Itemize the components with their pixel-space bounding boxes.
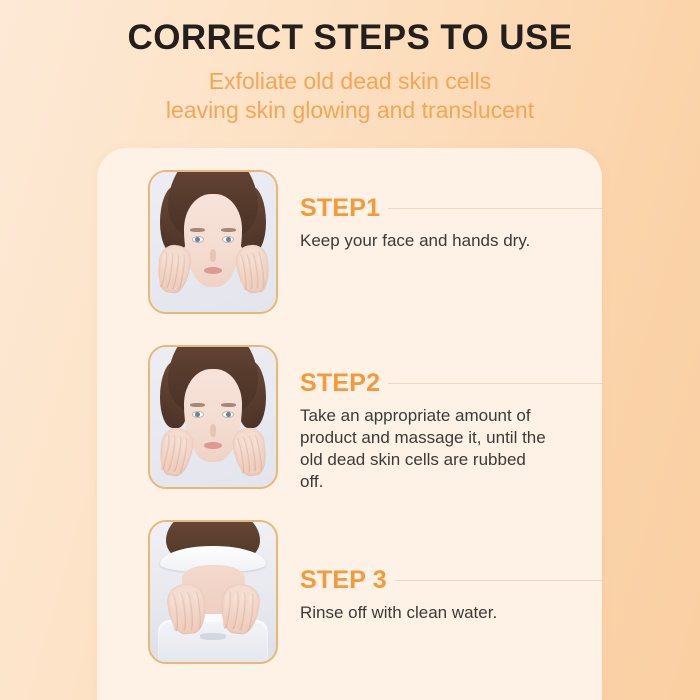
step-item-3: STEP 3 Rinse off with clean water. xyxy=(148,520,602,664)
step-1-heading: STEP1 xyxy=(300,194,602,223)
step-item-1: STEP1 Keep your face and hands dry. xyxy=(148,170,602,314)
step-3-text: STEP 3 Rinse off with clean water. xyxy=(278,520,602,624)
step-3-label: STEP 3 xyxy=(300,566,387,595)
step-1-thumbnail xyxy=(148,170,278,314)
step-3-description: Rinse off with clean water. xyxy=(300,602,560,624)
step-2-heading: STEP2 xyxy=(300,369,602,398)
step-3-photo xyxy=(150,522,276,662)
subtitle-line-2: leaving skin glowing and translucent xyxy=(0,96,700,125)
mouth xyxy=(204,267,222,273)
product-instruction-poster: CORRECT STEPS TO USE Exfoliate old dead … xyxy=(0,0,700,700)
nose xyxy=(210,424,216,437)
step-1-divider xyxy=(388,208,602,209)
step-1-description: Keep your face and hands dry. xyxy=(300,230,552,252)
nose xyxy=(210,249,216,262)
step-2-divider xyxy=(388,383,602,384)
step-2-photo xyxy=(150,347,276,487)
step-3-divider xyxy=(395,580,602,581)
step-2-text: STEP2 Take an appropriate amount of prod… xyxy=(278,345,602,493)
mouth xyxy=(204,442,222,448)
steps-card: STEP1 Keep your face and hands dry. xyxy=(97,148,602,700)
step-3-heading: STEP 3 xyxy=(300,566,602,595)
subtitle-line-1: Exfoliate old dead skin cells xyxy=(0,67,700,96)
poster-header: CORRECT STEPS TO USE Exfoliate old dead … xyxy=(0,0,700,125)
step-2-description: Take an appropriate amount of product an… xyxy=(300,405,552,493)
step-1-label: STEP1 xyxy=(300,194,380,223)
step-2-label: STEP2 xyxy=(300,369,380,398)
step-1-text: STEP1 Keep your face and hands dry. xyxy=(278,170,602,252)
step-1-photo xyxy=(150,172,276,312)
step-3-thumbnail xyxy=(148,520,278,664)
poster-subtitle: Exfoliate old dead skin cells leaving sk… xyxy=(0,67,700,125)
page-title: CORRECT STEPS TO USE xyxy=(0,16,700,60)
step-item-2: STEP2 Take an appropriate amount of prod… xyxy=(148,345,602,493)
eyebrow-right xyxy=(221,228,236,232)
step-2-thumbnail xyxy=(148,345,278,489)
eyebrow-right xyxy=(221,403,236,407)
